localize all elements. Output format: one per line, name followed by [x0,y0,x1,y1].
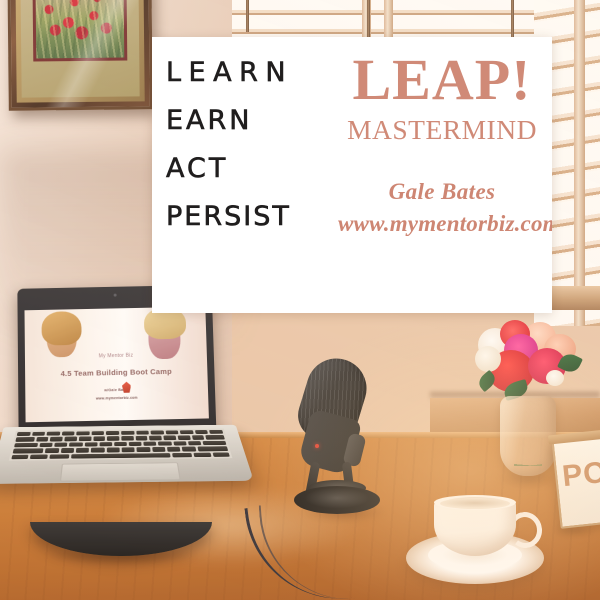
laptop-trackpad [60,462,181,481]
subheadline-mastermind: MASTERMIND [338,115,546,145]
microphone-led-indicator [315,444,319,448]
presenter-name: Gale Bates [338,179,546,205]
webinar-banner: My Mentor Biz 4.5 Team Building Boot Cam… [25,307,209,423]
mantra-line-persist: PERSIST [166,203,342,230]
laptop-base [0,425,254,484]
branding-block: LEAP! MASTERMIND Gale Bates www.mymentor… [338,51,546,237]
window-mullion [246,0,249,32]
window-mullion [367,0,370,40]
teacup-interior [440,498,510,509]
banner-hair-left [41,311,81,346]
rose-white-2 [475,346,501,372]
banner-line-3: w/Gale Bates [25,386,208,394]
keyboard-row [11,452,229,459]
framed-painting [7,0,153,111]
teacup-and-saucer [406,498,544,598]
window-mullion [511,0,514,40]
banner-line-4: www.mymentorbiz.com [25,395,208,403]
flower-stems [514,404,542,466]
headline-leap: LEAP! [338,51,546,109]
mantra-line-earn: EARN [166,107,342,134]
painting-glass-glare [10,0,150,108]
laptop: My Mentor Biz 4.5 Team Building Boot Cam… [4,286,236,556]
text-overlay-card: LEARN EARN ACT PERSIST LEAP! MASTERMIND … [152,37,552,313]
website-url: www.mymentorbiz.com [338,211,546,237]
promo-image: My Mentor Biz 4.5 Team Building Boot Cam… [0,0,600,600]
mantra-block: LEARN EARN ACT PERSIST [166,59,342,251]
rose-white-small [546,370,564,386]
wooden-table-sign: PO [552,435,600,529]
shutter-stile [574,0,585,326]
laptop-screen: My Mentor Biz 4.5 Team Building Boot Cam… [25,307,209,423]
rose-blooms [474,318,584,406]
laptop-keyboard [9,429,233,461]
mantra-line-act: ACT [166,155,342,182]
webcam-icon [113,294,116,297]
sign-text: PO [561,456,600,495]
banner-line-2: 4.5 Team Building Boot Camp [25,367,207,380]
mantra-line-learn: LEARN [166,59,342,86]
